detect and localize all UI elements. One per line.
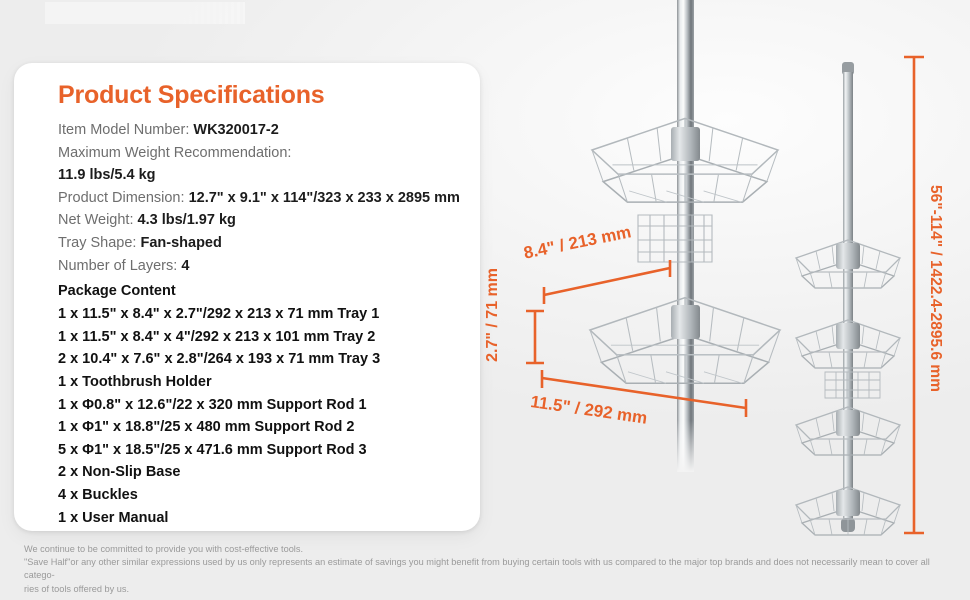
spec-row-model: Item Model Number: WK320017-2	[58, 119, 480, 142]
spec-label: Product Dimension:	[58, 190, 185, 206]
tension-pole	[843, 72, 853, 530]
package-item: 4 x Buckles	[58, 484, 480, 507]
package-item: 1 x Toothbrush Holder	[58, 371, 480, 394]
spec-row-max-weight-value: 11.9 lbs/5.4 kg	[58, 164, 480, 187]
package-item: 1 x Φ0.8" x 12.6"/22 x 320 mm Support Ro…	[58, 394, 480, 417]
package-item: 1 x 11.5" x 8.4" x 4"/292 x 213 x 101 mm…	[58, 326, 480, 349]
spec-label: Net Weight:	[58, 212, 134, 228]
product-diagram-svg	[480, 0, 970, 600]
watermark-texture	[45, 2, 245, 24]
spec-row-tray-shape: Tray Shape: Fan-shaped	[58, 232, 480, 255]
package-item: 2 x 10.4" x 7.6" x 2.8"/264 x 193 x 71 m…	[58, 348, 480, 371]
dimension-label-total-height: 56"-114" / 1422.4-2895.6 mm	[926, 185, 944, 392]
package-item: 1 x 11.5" x 8.4" x 2.7"/292 x 213 x 71 m…	[58, 303, 480, 326]
package-item: 5 x Φ1" x 18.5"/25 x 471.6 mm Support Ro…	[58, 439, 480, 462]
spec-label: Number of Layers:	[58, 258, 177, 274]
spec-value: 4.3 lbs/1.97 kg	[138, 212, 236, 228]
spec-label: Maximum Weight Recommendation:	[58, 145, 291, 161]
spec-label: Tray Shape:	[58, 235, 136, 251]
product-illustration: 8.4" / 213 mm 11.5" / 292 mm 2.7" / 71 m…	[480, 0, 970, 600]
spec-label: Item Model Number:	[58, 122, 189, 138]
spec-value: 4	[181, 258, 189, 274]
dimension-label-tray-height: 2.7" / 71 mm	[484, 268, 502, 362]
package-item: 2 x Non-Slip Base	[58, 461, 480, 484]
product-specifications-card: Product Specifications Item Model Number…	[14, 63, 480, 531]
package-item: 1 x Φ1" x 18.8"/25 x 480 mm Support Rod …	[58, 416, 480, 439]
basket-collar	[671, 305, 700, 339]
full-product-view	[796, 62, 900, 535]
spec-row-layers: Number of Layers: 4	[58, 255, 480, 278]
dimension-line-width	[544, 268, 670, 295]
spec-value: WK320017-2	[193, 122, 278, 138]
toothbrush-holder	[638, 215, 712, 262]
spec-row-max-weight-label: Maximum Weight Recommendation:	[58, 142, 480, 165]
package-item: 1 x User Manual	[58, 507, 480, 530]
spec-value: Fan-shaped	[140, 235, 221, 251]
basket-collar	[671, 127, 700, 161]
page-title: Product Specifications	[58, 81, 480, 110]
spec-row-net-weight: Net Weight: 4.3 lbs/1.97 kg	[58, 209, 480, 232]
spec-row-dimension: Product Dimension: 12.7" x 9.1" x 114"/3…	[58, 187, 480, 210]
spec-value: 12.7" x 9.1" x 114"/323 x 233 x 2895 mm	[189, 190, 460, 206]
package-content-title: Package Content	[58, 279, 480, 303]
